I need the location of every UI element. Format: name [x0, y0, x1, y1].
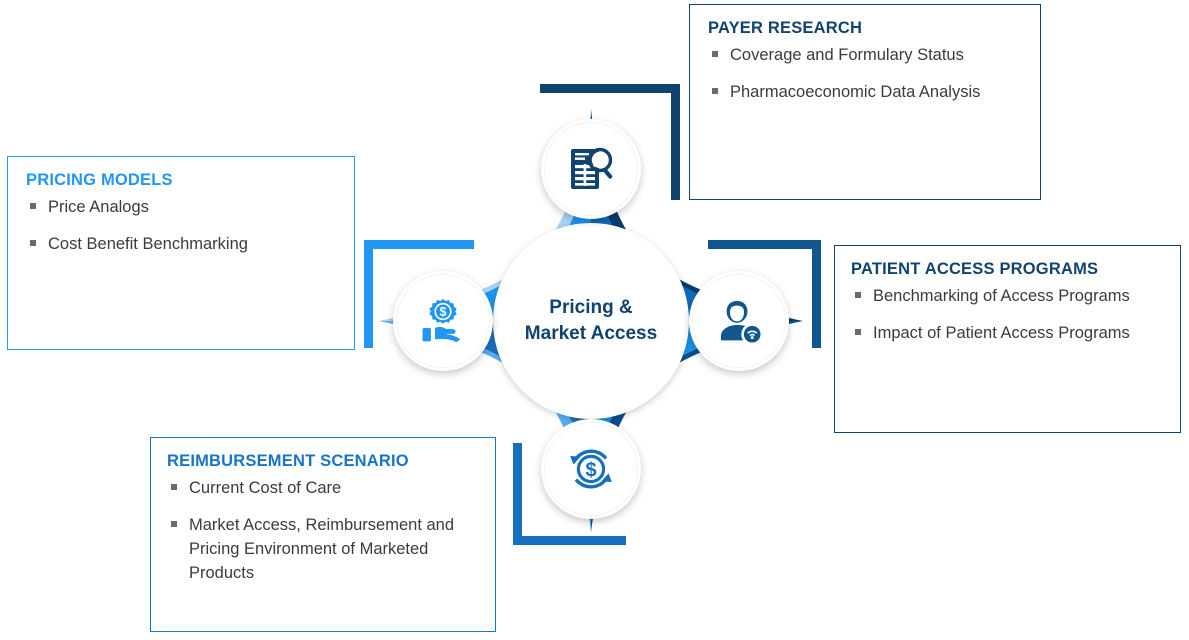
hand-money-gear-icon: $ — [417, 295, 469, 347]
card-payer-research: PAYER RESEARCH Coverage and Formulary St… — [689, 4, 1041, 200]
bullet-icon — [171, 484, 177, 490]
connector-horizontal-segment — [540, 84, 680, 93]
list-item: Coverage and Formulary Status — [708, 44, 1022, 68]
card-list-patient-access-programs: Benchmarking of Access Programs Impact o… — [851, 285, 1164, 346]
card-title-payer-research: PAYER RESEARCH — [708, 19, 1022, 38]
node-reimbursement-scenario[interactable]: $ — [541, 419, 641, 519]
connector-vertical-segment — [364, 240, 373, 348]
list-item-text: Current Cost of Care — [189, 479, 341, 497]
list-item-text: Market Access, Reimbursement and Pricing… — [189, 516, 454, 582]
card-list-reimbursement-scenario: Current Cost of Care Market Access, Reim… — [167, 477, 479, 586]
diagram-canvas: Pricing & Market Access — [0, 0, 1189, 640]
bullet-icon — [712, 51, 718, 57]
svg-text:$: $ — [440, 305, 447, 319]
card-title-patient-access-programs: PATIENT ACCESS PROGRAMS — [851, 260, 1164, 279]
list-item: Pharmacoeconomic Data Analysis — [708, 81, 1022, 105]
list-item: Impact of Patient Access Programs — [851, 322, 1164, 346]
list-item: Cost Benefit Benchmarking — [26, 233, 336, 257]
card-list-payer-research: Coverage and Formulary Status Pharmacoec… — [708, 44, 1022, 105]
list-item: Price Analogs — [26, 196, 336, 220]
bullet-icon — [30, 203, 36, 209]
hub-title-line1: Pricing & — [525, 295, 657, 321]
card-reimbursement-scenario: REIMBURSEMENT SCENARIO Current Cost of C… — [150, 437, 496, 632]
list-item-text: Cost Benefit Benchmarking — [48, 235, 248, 253]
card-pricing-models: PRICING MODELS Price Analogs Cost Benefi… — [7, 156, 355, 350]
list-item-text: Impact of Patient Access Programs — [873, 324, 1130, 342]
document-search-icon — [565, 143, 617, 195]
bullet-icon — [855, 292, 861, 298]
list-item-text: Pharmacoeconomic Data Analysis — [730, 83, 980, 101]
svg-text:$: $ — [585, 459, 596, 481]
card-list-pricing-models: Price Analogs Cost Benefit Benchmarking — [26, 196, 336, 257]
node-pricing-models[interactable]: $ — [393, 271, 493, 371]
list-item-text: Benchmarking of Access Programs — [873, 287, 1130, 305]
connector-vertical-segment — [812, 240, 821, 348]
dollar-refresh-icon: $ — [565, 443, 617, 495]
list-item-text: Coverage and Formulary Status — [730, 46, 964, 64]
list-item: Benchmarking of Access Programs — [851, 285, 1164, 309]
list-item-text: Price Analogs — [48, 198, 149, 216]
card-title-reimbursement-scenario: REIMBURSEMENT SCENARIO — [167, 452, 479, 471]
list-item: Market Access, Reimbursement and Pricing… — [167, 514, 479, 586]
hub-title-line2: Market Access — [525, 321, 657, 347]
card-patient-access-programs: PATIENT ACCESS PROGRAMS Benchmarking of … — [834, 245, 1181, 433]
card-title-pricing-models: PRICING MODELS — [26, 171, 336, 190]
bullet-icon — [171, 521, 177, 527]
list-item: Current Cost of Care — [167, 477, 479, 501]
hub-center-label: Pricing & Market Access — [493, 223, 689, 419]
bullet-icon — [30, 240, 36, 246]
bullet-icon — [712, 88, 718, 94]
person-signal-icon — [714, 296, 764, 346]
node-payer-research[interactable] — [541, 119, 641, 219]
bullet-icon — [855, 329, 861, 335]
node-patient-access[interactable] — [689, 271, 789, 371]
